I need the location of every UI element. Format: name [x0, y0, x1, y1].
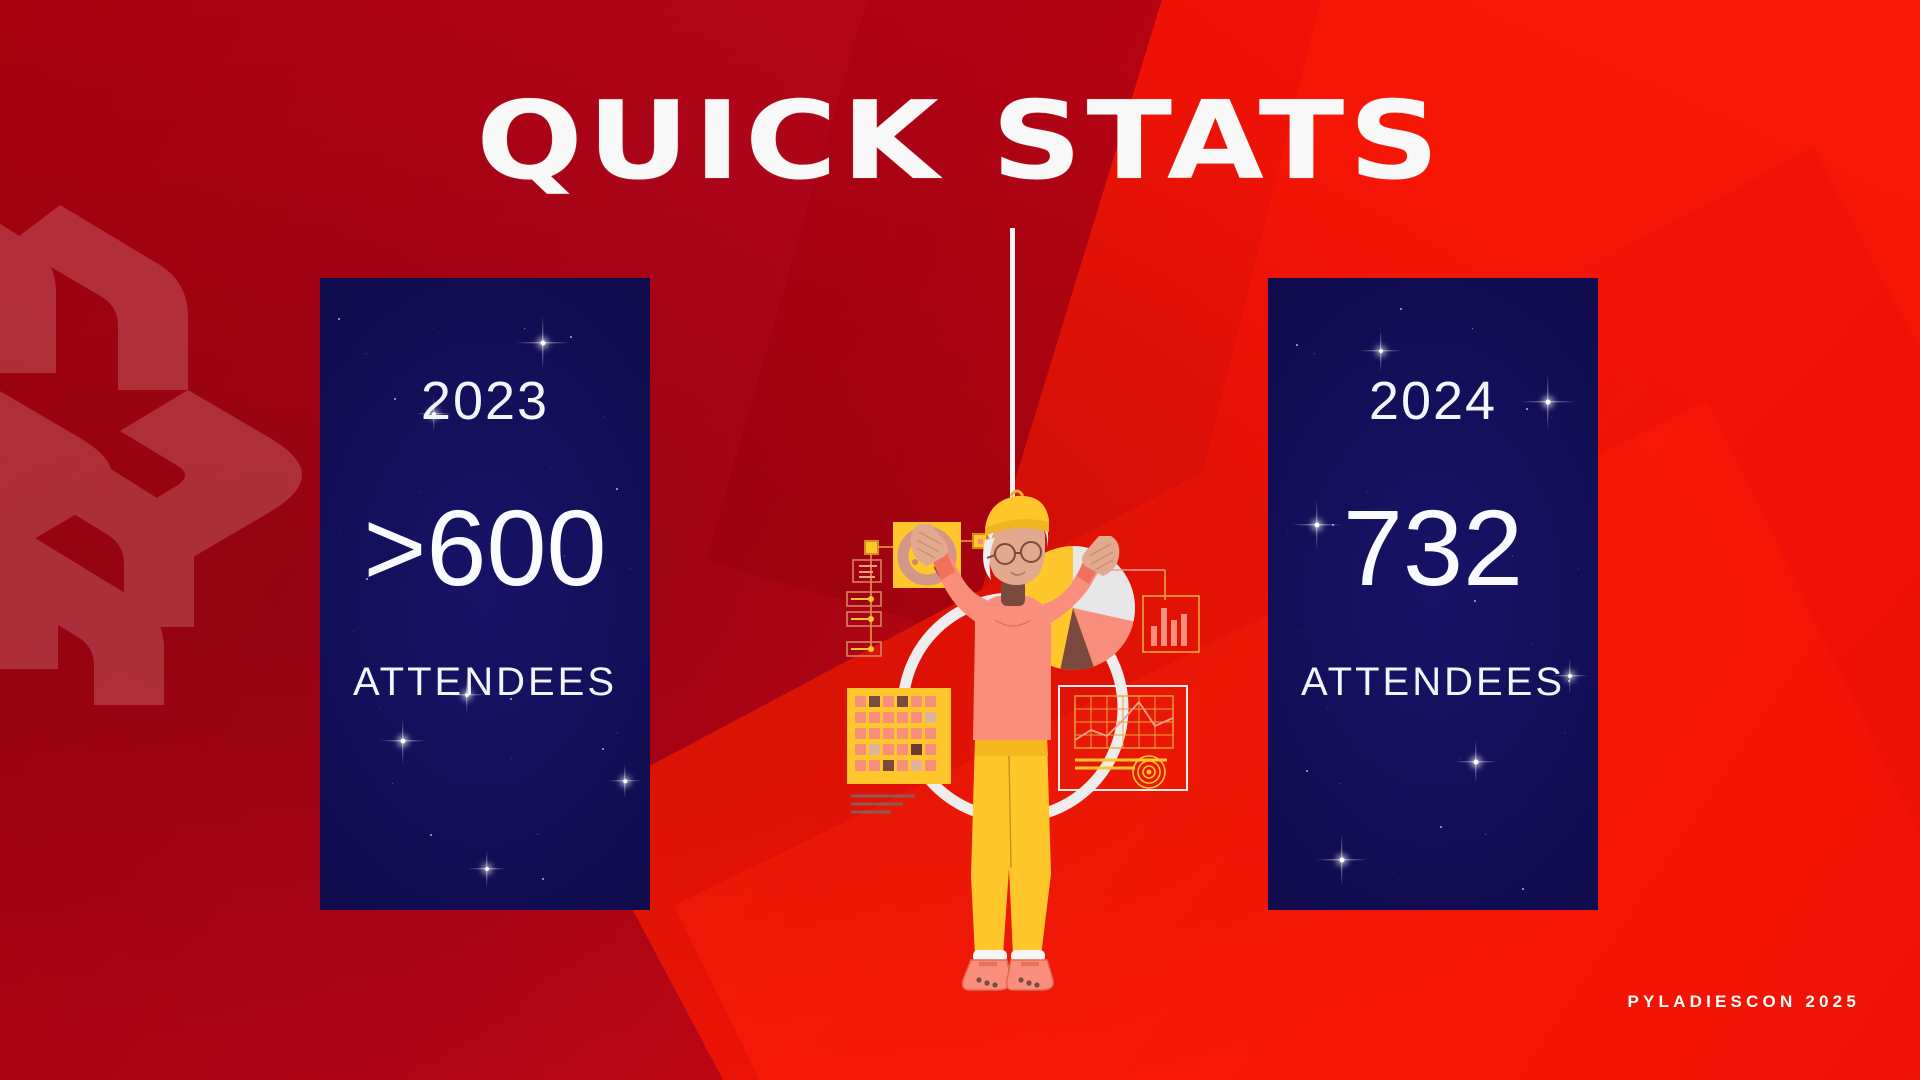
stat-value: 732 [1343, 494, 1523, 602]
slide-root: QUICK STATS 2023 >600 ATTENDEES [0, 0, 1920, 1080]
line-graph-panel [1059, 686, 1187, 790]
node-square [865, 541, 878, 554]
data-analyst-illustration [845, 228, 1225, 1058]
page-title: QUICK STATS [0, 88, 1920, 196]
stat-card-2023: 2023 >600 ATTENDEES [320, 278, 650, 910]
bar-chart [1143, 596, 1199, 652]
stat-label: ATTENDEES [353, 662, 617, 702]
stat-year: 2023 [421, 374, 549, 428]
stat-value: >600 [363, 494, 606, 602]
brand-watermark-logo [0, 175, 330, 705]
stat-card-2024: 2024 732 ATTENDEES [1268, 278, 1598, 910]
stat-label: ATTENDEES [1301, 662, 1565, 702]
footer-brand: PYLADIESCON 2025 [1627, 992, 1860, 1012]
stat-year: 2024 [1369, 374, 1497, 428]
heatmap-grid [847, 688, 951, 784]
